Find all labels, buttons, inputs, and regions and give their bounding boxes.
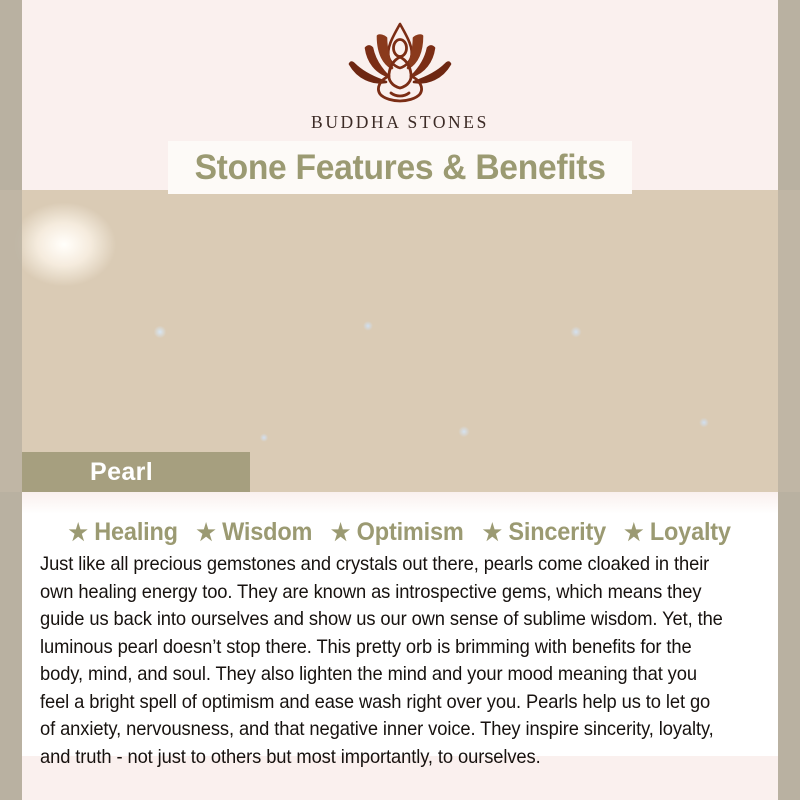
- content-panel: ★ Healing ★ Wisdom ★ Optimism ★ Sincerit…: [22, 492, 778, 756]
- benefit-label: Healing: [95, 518, 179, 547]
- description-text: Just like all precious gemstones and cry…: [40, 551, 728, 771]
- hero-right-veil: [778, 190, 800, 492]
- benefit-item-sincerity: ★ Sincerity: [472, 518, 606, 547]
- content-top-gradient: [22, 492, 778, 514]
- star-icon: ★: [483, 521, 502, 544]
- benefit-label: Loyalty: [650, 518, 731, 547]
- page-title: Stone Features & Benefits: [194, 148, 605, 188]
- star-icon: ★: [69, 521, 88, 544]
- benefit-label: Optimism: [357, 518, 464, 547]
- benefit-item-wisdom: ★ Wisdom: [186, 518, 312, 547]
- pearls-photo: [0, 190, 800, 492]
- stone-name-text: Pearl: [90, 458, 153, 487]
- brand-name: BUDDHA STONES: [0, 112, 800, 133]
- benefit-item-optimism: ★ Optimism: [320, 518, 463, 547]
- stone-name-banner: Pearl: [22, 452, 250, 492]
- benefits-list: ★ Healing ★ Wisdom ★ Optimism ★ Sincerit…: [22, 518, 778, 547]
- benefit-item-loyalty: ★ Loyalty: [614, 518, 731, 547]
- star-icon: ★: [624, 521, 643, 544]
- brand-logo: BUDDHA STONES: [0, 18, 800, 133]
- hero-left-veil: [0, 190, 22, 492]
- star-icon: ★: [331, 521, 350, 544]
- benefit-item-healing: ★ Healing: [69, 518, 178, 547]
- benefit-label: Sincerity: [508, 518, 606, 547]
- benefit-label: Wisdom: [222, 518, 312, 547]
- poster-root: BUDDHA STONES Pearl Stone Features & Ben…: [0, 0, 800, 800]
- star-icon: ★: [196, 521, 215, 544]
- title-plate: Stone Features & Benefits: [168, 141, 632, 194]
- lotus-meditation-icon: [342, 18, 458, 110]
- hero-image: [0, 190, 800, 492]
